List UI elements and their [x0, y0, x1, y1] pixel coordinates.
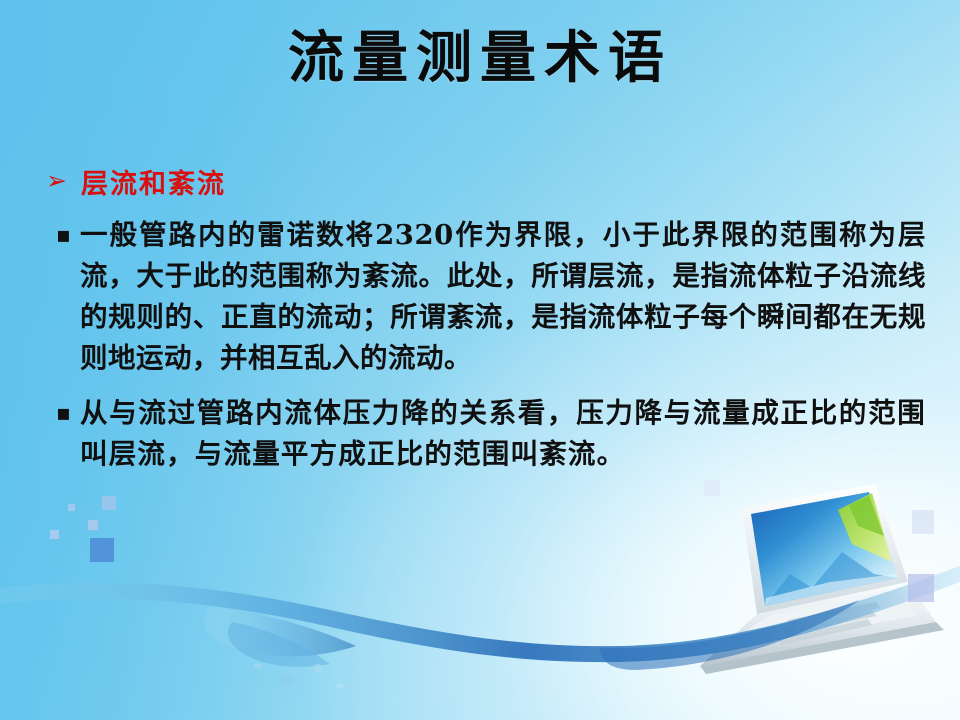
arrow-bullet-icon: ➢ — [46, 168, 67, 193]
square-bullet-icon: ▪ — [46, 393, 80, 434]
slide-canvas: 流量测量术语 ➢ 层流和紊流 ▪ 一般管路内的雷诺数将2320作为界限，小于此界… — [0, 0, 960, 720]
section-heading-label: 层流和紊流 — [81, 162, 226, 201]
square-bullet-icon: ▪ — [46, 215, 80, 256]
bullet-paragraph-text: 一般管路内的雷诺数将2320作为界限，小于此界限的范围称为层流，大于此的范围称为… — [80, 215, 926, 379]
section-heading: ➢ 层流和紊流 — [46, 162, 926, 201]
slide-title: 流量测量术语 — [0, 26, 960, 90]
bullet-paragraph: ▪ 一般管路内的雷诺数将2320作为界限，小于此界限的范围称为层流，大于此的范围… — [46, 215, 926, 379]
bullet-paragraph-text: 从与流过管路内流体压力降的关系看，压力降与流量成正比的范围叫层流，与流量平方成正… — [80, 393, 926, 475]
bullet-paragraph: ▪ 从与流过管路内流体压力降的关系看，压力降与流量成正比的范围叫层流，与流量平方… — [46, 393, 926, 475]
slide-body: ➢ 层流和紊流 ▪ 一般管路内的雷诺数将2320作为界限，小于此界限的范围称为层… — [46, 162, 926, 475]
